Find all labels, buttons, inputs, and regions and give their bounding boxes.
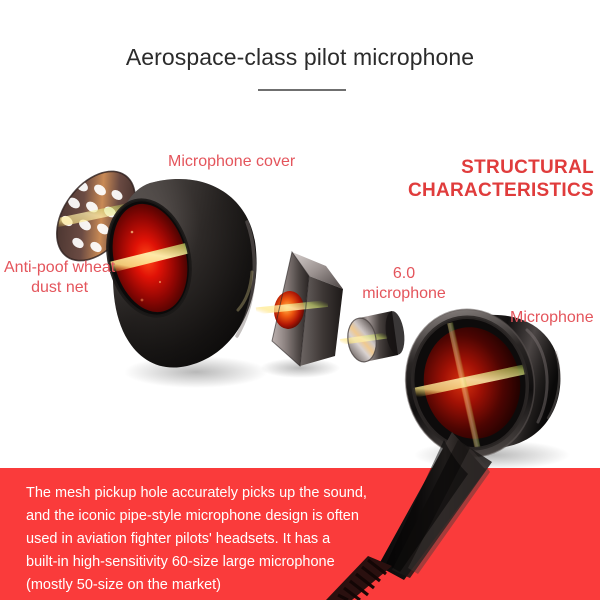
label-anti-poof-wheat-dust-net: Anti-poof wheat dust net xyxy=(4,258,115,298)
description-line-2: and the iconic pipe-style microphone des… xyxy=(26,505,426,528)
label-60-line2: microphone xyxy=(352,284,456,304)
label-dust-net-line1: Anti-poof wheat xyxy=(4,258,115,278)
page-title: Aerospace-class pilot microphone xyxy=(0,44,600,71)
description-line-1: The mesh pickup hole accurately picks up… xyxy=(26,482,426,505)
six-point-zero-microphone-housing-part xyxy=(256,252,343,366)
description-text: The mesh pickup hole accurately picks up… xyxy=(26,482,426,597)
description-line-4: built-in high-sensitivity 60-size large … xyxy=(26,551,426,574)
description-line-3: used in aviation fighter pilots' headset… xyxy=(26,528,426,551)
label-dust-net-line2: dust net xyxy=(4,278,115,298)
product-infographic: Aerospace-class pilot microphone Microph… xyxy=(0,0,600,600)
description-line-5: (mostly 50-size on the market) xyxy=(26,574,426,597)
microphone-capsule-part xyxy=(340,310,407,364)
title-divider xyxy=(258,89,346,91)
structural-heading-line1: STRUCTURAL xyxy=(408,156,594,179)
label-microphone-cover: Microphone cover xyxy=(168,152,295,172)
label-microphone: Microphone xyxy=(510,308,594,328)
label-60-microphone: 6.0 microphone xyxy=(352,264,456,304)
label-60-line1: 6.0 xyxy=(352,264,456,284)
structural-characteristics-heading: STRUCTURAL CHARACTERISTICS xyxy=(408,156,594,202)
structural-heading-line2: CHARACTERISTICS xyxy=(408,179,594,202)
